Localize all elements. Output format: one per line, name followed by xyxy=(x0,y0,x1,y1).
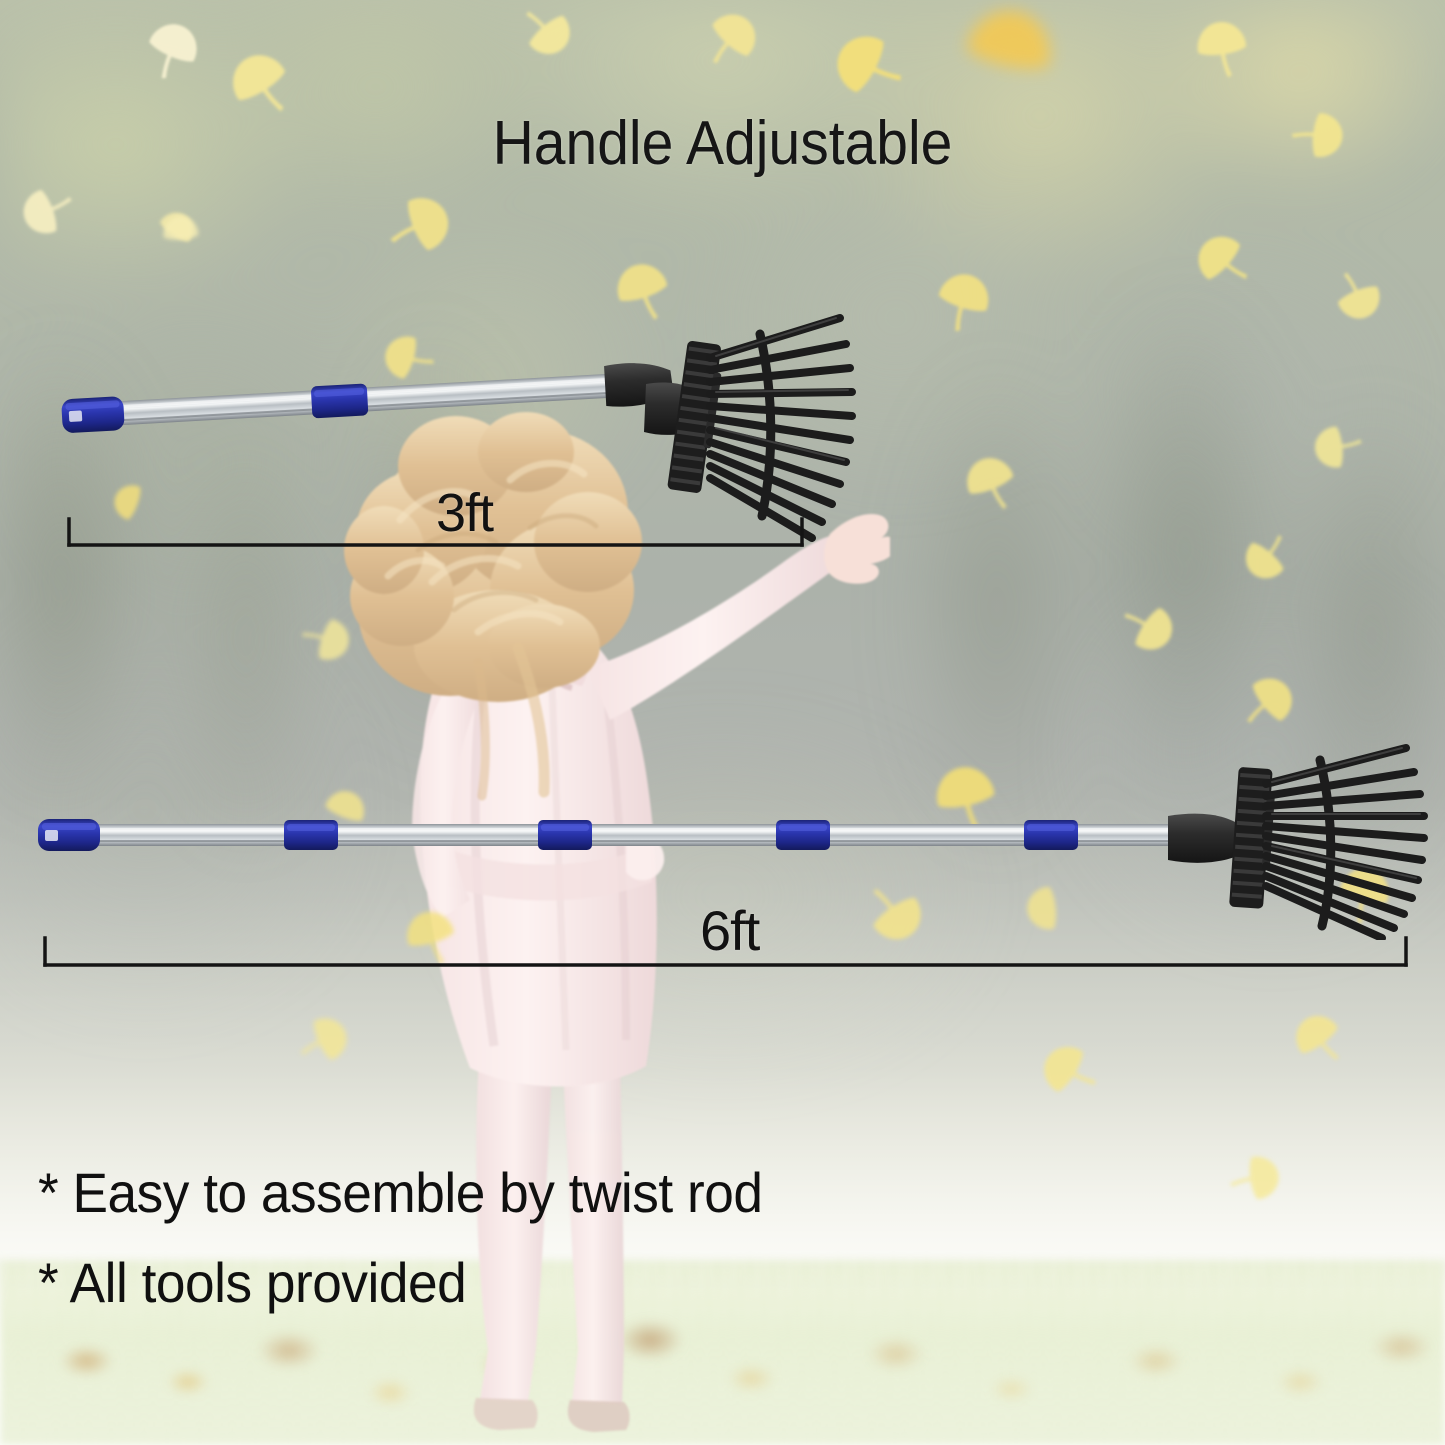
ginkgo-leaf-icon xyxy=(1307,417,1366,476)
feature-bullet-assemble: * Easy to assemble by twist rod xyxy=(38,1160,762,1225)
ginkgo-leaf-icon xyxy=(156,210,205,259)
product-infographic: 3ft 6ft Handle Adjustable * Easy to asse… xyxy=(0,0,1445,1445)
feature-bullet-tools: * All tools provided xyxy=(38,1250,466,1315)
ginkgo-leaf-icon xyxy=(1186,12,1258,84)
dimension-label-6ft: 6ft xyxy=(700,903,759,959)
page-title: Handle Adjustable xyxy=(58,108,1387,179)
ginkgo-leaf-icon xyxy=(1224,1146,1287,1209)
dimension-label-3ft: 3ft xyxy=(436,486,493,540)
